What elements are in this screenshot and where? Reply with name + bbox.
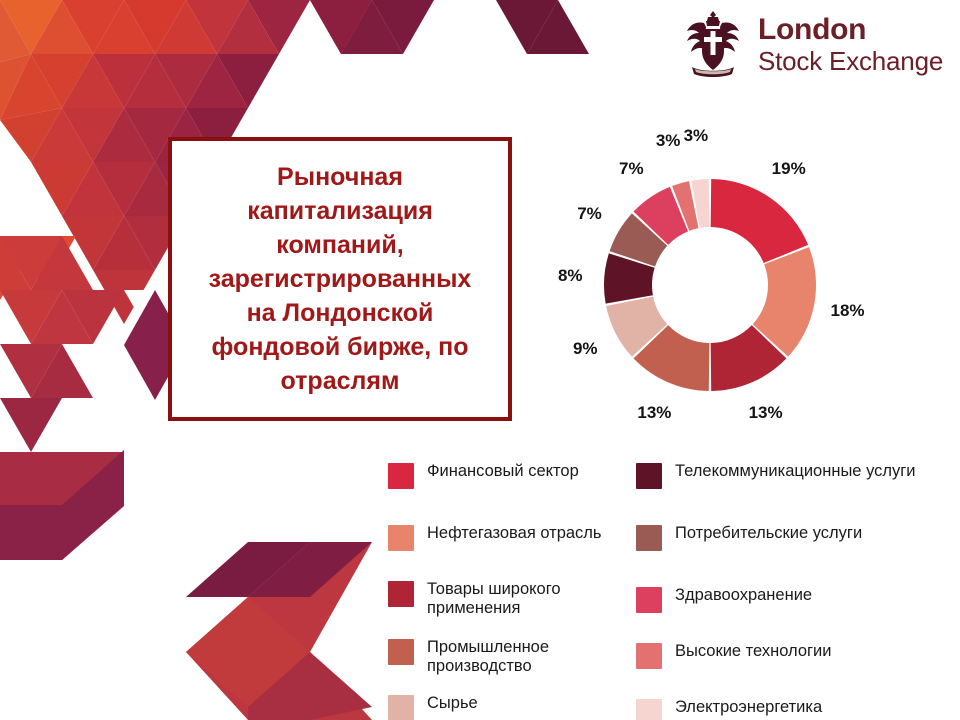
- legend-item[interactable]: Нефтегазовая отрасль: [388, 524, 602, 551]
- lse-logo-line1: London: [758, 15, 943, 45]
- legend-item-label: Электроэнергетика: [675, 698, 822, 717]
- donut-percent-label: 8%: [558, 266, 583, 286]
- page-title: Рыночная капитализация компаний, зарегис…: [193, 160, 488, 398]
- legend-item[interactable]: Высокие технологии: [636, 642, 831, 669]
- legend-item[interactable]: Телекоммуникационные услуги: [636, 462, 916, 489]
- legend-item-label: Здравоохранение: [675, 586, 812, 605]
- legend-color-swatch: [388, 695, 414, 720]
- decor-triangle: [496, 0, 558, 54]
- donut-chart-svg: [540, 125, 940, 455]
- lse-logo-line2: Stock Exchange: [758, 48, 943, 74]
- legend-color-swatch: [388, 639, 414, 665]
- chart-legend: Финансовый секторНефтегазовая отрасльТов…: [388, 462, 948, 714]
- legend-item[interactable]: Сырье: [388, 694, 478, 720]
- lse-logo-wordmark: London Stock Exchange: [758, 15, 943, 74]
- decor-chevron: [124, 542, 372, 720]
- legend-color-swatch: [388, 525, 414, 551]
- legend-item-label: Телекоммуникационные услуги: [675, 462, 916, 481]
- donut-percent-label: 7%: [619, 159, 644, 179]
- donut-percent-label: 9%: [573, 339, 598, 359]
- decor-triangle: [372, 0, 434, 54]
- donut-percent-label: 19%: [772, 159, 806, 179]
- title-box: Рыночная капитализация компаний, зарегис…: [168, 137, 512, 421]
- donut-percent-label: 13%: [637, 403, 671, 423]
- legend-color-swatch: [636, 525, 662, 551]
- legend-color-swatch: [636, 463, 662, 489]
- donut-percent-label: 13%: [749, 403, 783, 423]
- donut-percent-label: 18%: [831, 301, 865, 321]
- legend-item[interactable]: Товары широкого применения: [388, 580, 561, 619]
- slide: London Stock Exchange Рыночная капитализ…: [0, 0, 960, 720]
- legend-item[interactable]: Потребительские услуги: [636, 524, 862, 551]
- legend-item-label: Финансовый сектор: [427, 462, 579, 481]
- lse-logo: London Stock Exchange: [682, 6, 950, 82]
- legend-color-swatch: [388, 581, 414, 607]
- legend-item-label: Нефтегазовая отрасль: [427, 524, 602, 543]
- legend-color-swatch: [636, 643, 662, 669]
- legend-item[interactable]: Промышленное производство: [388, 638, 549, 677]
- legend-item-label: Сырье: [427, 694, 478, 713]
- legend-item-label: Промышленное производство: [427, 638, 549, 677]
- legend-item[interactable]: Финансовый сектор: [388, 462, 579, 489]
- legend-item-label: Высокие технологии: [675, 642, 831, 661]
- lse-coat-of-arms-icon: [682, 9, 744, 79]
- donut-percent-label: 3%: [684, 126, 709, 146]
- legend-color-swatch: [388, 463, 414, 489]
- decor-triangle: [310, 0, 372, 54]
- donut-chart: 19%18%13%13%9%8%7%7%3%3%: [540, 125, 940, 455]
- legend-color-swatch: [636, 587, 662, 613]
- legend-item[interactable]: Здравоохранение: [636, 586, 812, 613]
- donut-percent-label: 3%: [656, 131, 681, 151]
- legend-item-label: Товары широкого применения: [427, 580, 561, 619]
- legend-item[interactable]: Электроэнергетика: [636, 698, 822, 720]
- legend-item-label: Потребительские услуги: [675, 524, 862, 543]
- donut-percent-label: 7%: [577, 204, 602, 224]
- legend-color-swatch: [636, 699, 662, 720]
- donut-segment[interactable]: [711, 179, 808, 263]
